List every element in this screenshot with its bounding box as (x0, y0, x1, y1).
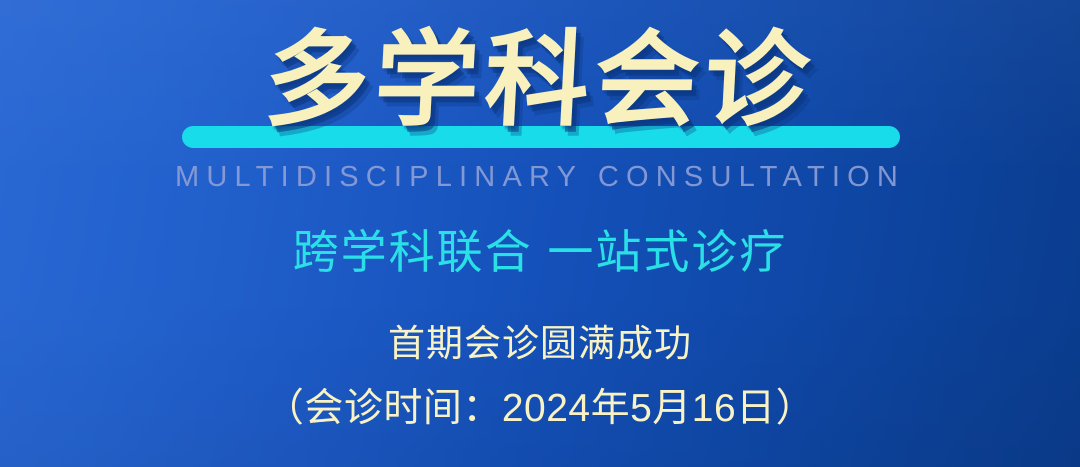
page-title: 多学科会诊 (0, 22, 1080, 138)
mdt-announcement-banner: 多学科会诊 MULTIDISCIPLINARY CONSULTATION 跨学科… (0, 0, 1080, 467)
tagline: 跨学科联合 一站式诊疗 (0, 218, 1080, 280)
english-subtitle: MULTIDISCIPLINARY CONSULTATION (0, 158, 1080, 196)
note-date-line: （会诊时间：2024年5月16日） (0, 379, 1080, 431)
note-success-line: 首期会诊圆满成功 (0, 316, 1080, 364)
